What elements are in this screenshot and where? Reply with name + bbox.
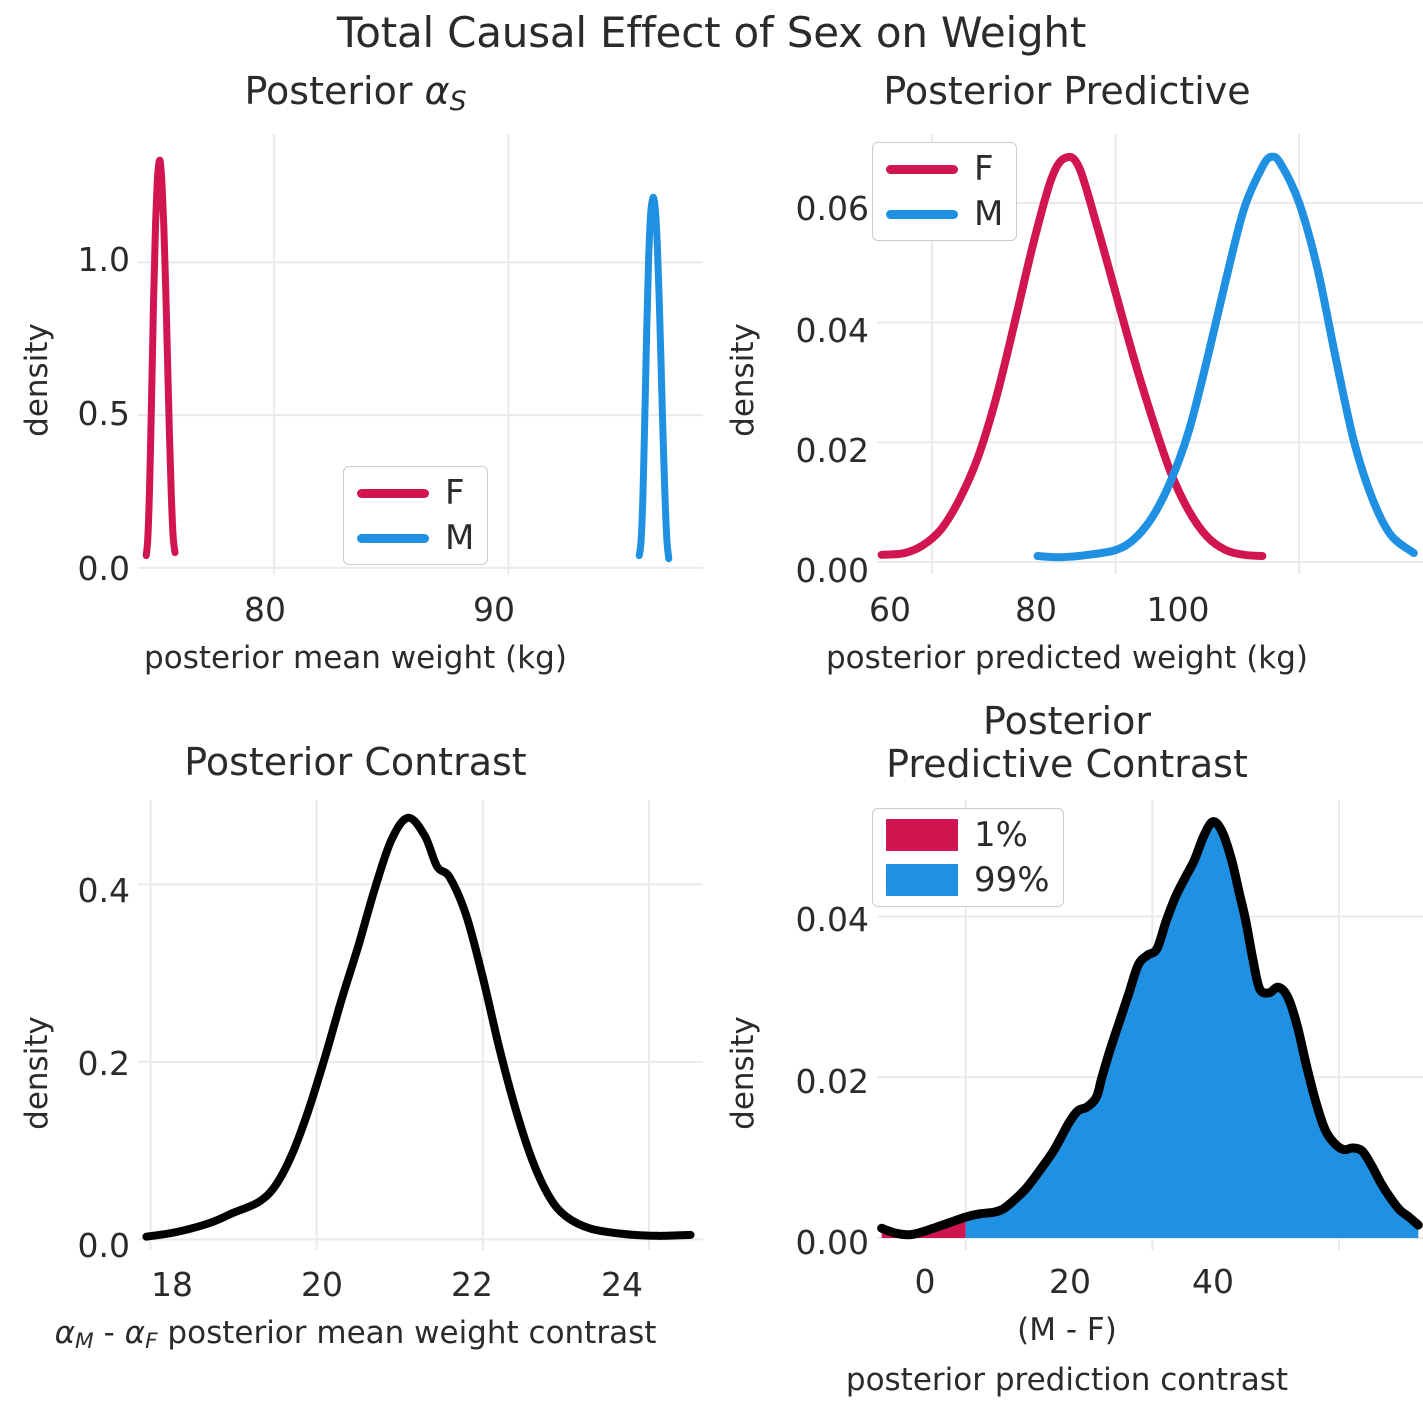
panel1-xtick-80: 80 — [215, 590, 315, 629]
panel3-axes — [138, 800, 703, 1250]
panel4-legend-label-1pct: 1% — [974, 818, 1028, 852]
panel3-xtick-18: 18 — [122, 1265, 222, 1304]
panel2-ytick-0.06: 0.06 — [721, 189, 869, 228]
panel4-legend[interactable]: 1% 99% — [872, 808, 1064, 907]
panel4-xtick-20: 20 — [1020, 1262, 1120, 1301]
figure-suptitle: Total Causal Effect of Sex on Weight — [0, 8, 1423, 57]
panel3-xtick-20: 20 — [272, 1265, 372, 1304]
panel3-xlabel: αM - αF posterior mean weight contrast — [0, 1315, 711, 1354]
legend-line-icon-m — [357, 534, 429, 543]
panel2-xtick-100: 100 — [1128, 590, 1228, 629]
panel3-xlabel-dash: - — [94, 1315, 125, 1351]
panel1-title: Posterior αS — [0, 72, 711, 115]
panel2-legend-label-f: F — [974, 152, 994, 186]
panel2-xlabel: posterior predicted weight (kg) — [711, 640, 1423, 676]
panel3-title: Posterior Contrast — [0, 743, 711, 781]
panel2-xtick-60: 60 — [840, 590, 940, 629]
panel1-ytick-0.5: 0.5 — [40, 394, 130, 433]
panel4-legend-row-1pct[interactable]: 1% — [886, 818, 1050, 852]
panel4-ytick-0.02: 0.02 — [721, 1062, 869, 1101]
panel3-xlabel-rest: posterior mean weight contrast — [158, 1315, 657, 1351]
panel4-title-line1: Posterior — [711, 702, 1423, 741]
panel3-xtick-24: 24 — [572, 1265, 672, 1304]
panel1-xlabel: posterior mean weight (kg) — [0, 640, 711, 676]
panel4-title-line2: Predictive Contrast — [711, 745, 1423, 784]
legend-patch-icon-99pct — [886, 864, 958, 896]
panel2-legend-row-m[interactable]: M — [886, 197, 1003, 231]
panel1-ytick-1.0: 1.0 — [40, 240, 130, 279]
panel-posterior-alpha-s: Posterior αS density 1.0 0.5 0.0 80 90 p… — [0, 62, 711, 722]
panel2-legend[interactable]: F M — [872, 142, 1017, 241]
panel3-ytick-0.2: 0.2 — [40, 1044, 130, 1083]
panel1-title-text: Posterior — [245, 69, 425, 113]
panel2-ytick-0.00: 0.00 — [721, 551, 869, 590]
panel2-legend-label-m: M — [974, 197, 1003, 231]
panel1-legend-row-f[interactable]: F — [357, 476, 474, 510]
panel1-ytick-0.0: 0.0 — [40, 549, 130, 588]
panel1-legend-label-f: F — [445, 476, 465, 510]
panel2-legend-row-f[interactable]: F — [886, 152, 1003, 186]
panel4-legend-row-99pct[interactable]: 99% — [886, 863, 1050, 897]
panel4-xtick-40: 40 — [1163, 1262, 1263, 1301]
panel2-ytick-0.02: 0.02 — [721, 431, 869, 470]
panel3-xlabel-sub-m: M — [75, 1329, 94, 1354]
panel4-legend-label-99pct: 99% — [974, 863, 1050, 897]
panel-posterior-predictive-contrast: Posterior Predictive Contrast density 0.… — [711, 700, 1423, 1423]
panel1-title-subscript: S — [450, 86, 467, 117]
panel3-ytick-0.0: 0.0 — [40, 1226, 130, 1265]
panel4-xlabel-line1: (M - F) — [711, 1312, 1423, 1348]
panel4-xtick-0: 0 — [875, 1262, 975, 1301]
panel1-title-alpha: α — [425, 69, 450, 113]
panel1-legend-row-m[interactable]: M — [357, 521, 474, 555]
panel2-ytick-0.04: 0.04 — [721, 311, 869, 350]
panel1-legend-label-m: M — [445, 521, 474, 555]
panel3-ytick-0.4: 0.4 — [40, 871, 130, 910]
legend-patch-icon-1pct — [886, 819, 958, 851]
panel4-ytick-0.04: 0.04 — [721, 900, 869, 939]
panel-posterior-predictive: Posterior Predictive density 0.06 0.04 0… — [711, 62, 1423, 722]
legend-line-icon-m — [886, 210, 958, 219]
panel1-legend[interactable]: F M — [343, 466, 488, 565]
panel3-xlabel-sub-f: F — [145, 1329, 157, 1354]
panel1-ylabel: density — [19, 300, 55, 460]
panel1-xtick-90: 90 — [444, 590, 544, 629]
panel3-xtick-22: 22 — [422, 1265, 522, 1304]
panel4-xlabel-line2: posterior prediction contrast — [711, 1362, 1423, 1398]
panel-posterior-contrast: Posterior Contrast density 0.4 0.2 0.0 1… — [0, 735, 711, 1423]
panel2-title: Posterior Predictive — [711, 72, 1423, 110]
figure-root: Total Causal Effect of Sex on Weight Pos… — [0, 0, 1423, 1423]
legend-line-icon-f — [886, 165, 958, 174]
panel4-ytick-0.00: 0.00 — [721, 1223, 869, 1262]
panel2-xtick-80: 80 — [986, 590, 1086, 629]
panel3-xlabel-alpha-f: α — [125, 1315, 145, 1351]
panel3-plot — [138, 800, 703, 1250]
legend-line-icon-f — [357, 489, 429, 498]
panel3-xlabel-alpha-m: α — [55, 1315, 75, 1351]
